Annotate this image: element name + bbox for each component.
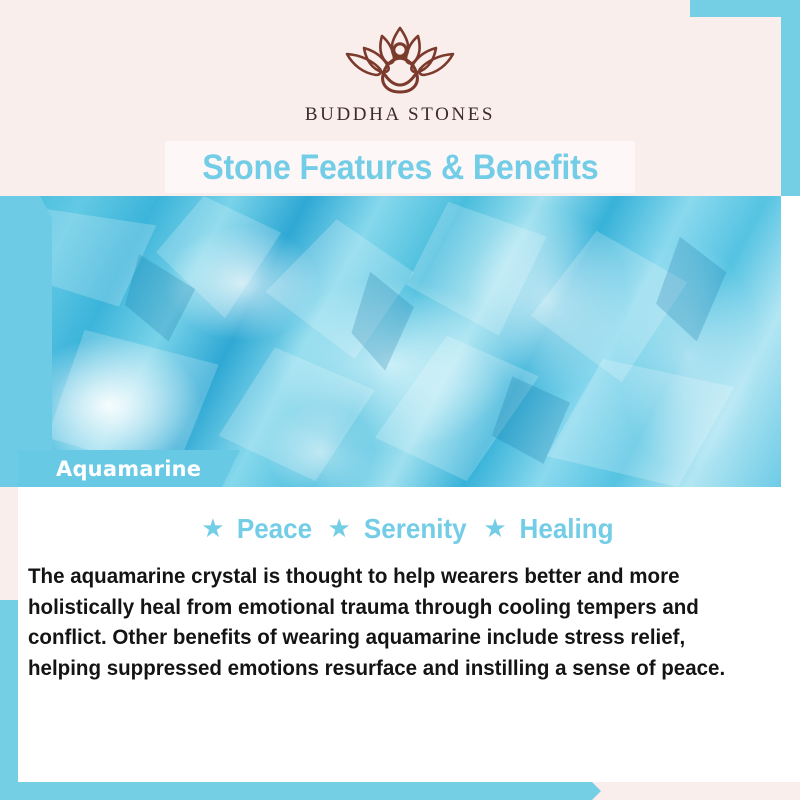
- keyword-label: Serenity: [364, 515, 467, 543]
- aquamarine-crystal-photo: [0, 196, 781, 487]
- brand-logo-block: BUDDHA STONES: [0, 22, 800, 126]
- stone-name-tag: Aquamarine: [18, 450, 240, 487]
- crystal-photo-image: [0, 196, 781, 487]
- corner-frame-top-right-vertical: [781, 0, 800, 196]
- title-banner: Stone Features & Benefits: [165, 141, 635, 193]
- lotus-meditation-figure-icon: [335, 22, 465, 100]
- lower-content-panel: ★ Peace ★ Serenity ★ Healing The aquamar…: [18, 487, 800, 782]
- star-icon: ★: [328, 515, 351, 541]
- keyword-item-peace: ★ Peace: [201, 515, 314, 543]
- keyword-row: ★ Peace ★ Serenity ★ Healing: [18, 515, 800, 543]
- keyword-label: Healing: [519, 515, 613, 543]
- photo-left-accent-edge: [0, 196, 52, 487]
- star-icon: ★: [483, 515, 506, 541]
- keyword-item-healing: ★ Healing: [483, 515, 616, 543]
- corner-frame-bottom-left-vertical: [0, 600, 18, 800]
- page-title: Stone Features & Benefits: [202, 150, 598, 185]
- keyword-label: Peace: [236, 515, 311, 543]
- benefits-description: The aquamarine crystal is thought to hel…: [28, 561, 754, 683]
- star-icon: ★: [201, 515, 224, 541]
- stone-name-label: Aquamarine: [56, 457, 201, 481]
- corner-frame-bottom-horizontal: [0, 782, 610, 800]
- corner-accent-bottom-right: [592, 782, 800, 800]
- keyword-item-serenity: ★ Serenity: [328, 515, 471, 543]
- poster-canvas: BUDDHA STONES Stone Features & Benefits …: [0, 0, 800, 800]
- lower-section: ★ Peace ★ Serenity ★ Healing The aquamar…: [0, 487, 800, 800]
- brand-name: BUDDHA STONES: [0, 104, 800, 126]
